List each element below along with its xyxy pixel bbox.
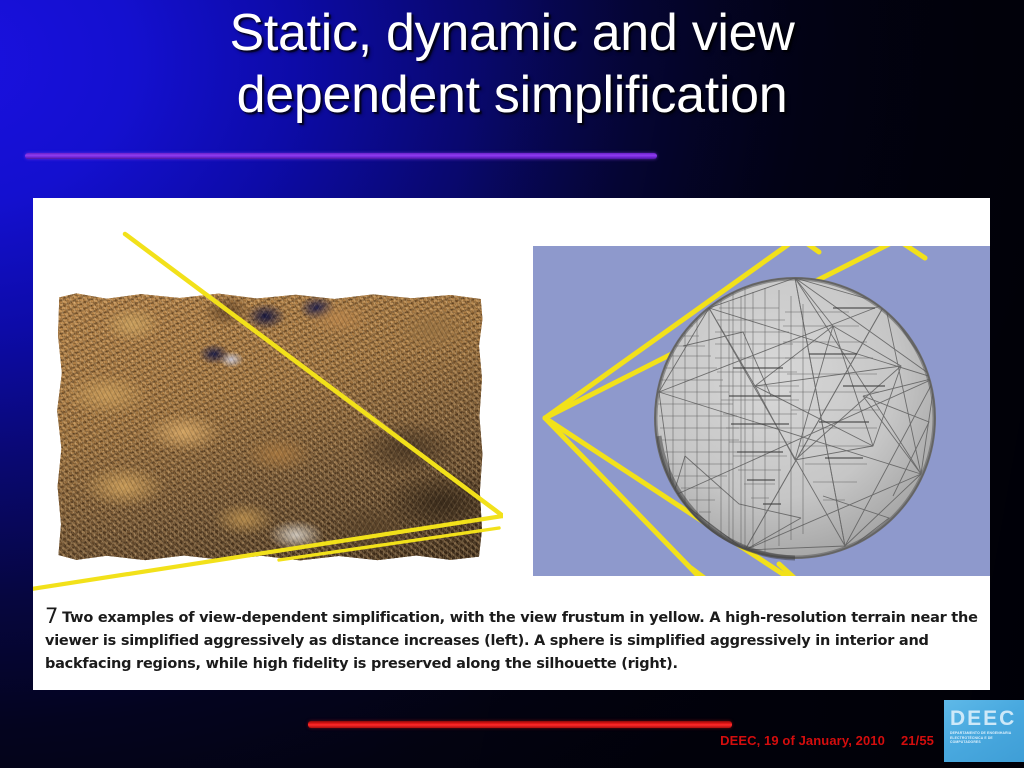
terrain-view-frustum (33, 198, 503, 598)
title-line-2: dependent simplification (0, 64, 1024, 126)
figure-number: 7 (45, 604, 62, 628)
terrain-figure (33, 198, 503, 598)
deec-logo: DEEC DEPARTAMENTO DE ENGENHARIA ELECTROT… (944, 700, 1024, 762)
deec-logo-subtitle: DEPARTAMENTO DE ENGENHARIA ELECTROTÉCNIC… (950, 731, 1018, 745)
page-title: Static, dynamic and view dependent simpl… (0, 2, 1024, 126)
sphere-figure (533, 246, 990, 576)
title-divider-rule (25, 153, 657, 159)
deec-logo-mark: DEEC (950, 708, 1016, 729)
sphere-mesh-image (533, 246, 990, 576)
figure-panel: 7Two examples of view-dependent simplifi… (33, 198, 990, 690)
presentation-slide: Static, dynamic and view dependent simpl… (0, 0, 1024, 768)
footer: DEEC, 19 of January, 201021/55 (0, 733, 934, 748)
figure-caption-text: Two examples of view-dependent simplific… (45, 610, 978, 672)
footer-divider-rule (308, 721, 732, 728)
page-number: 21/55 (885, 733, 934, 748)
figure-caption: 7Two examples of view-dependent simplifi… (45, 606, 981, 676)
title-line-1: Static, dynamic and view (0, 2, 1024, 64)
footer-attribution: DEEC, 19 of January, 2010 (720, 733, 885, 748)
